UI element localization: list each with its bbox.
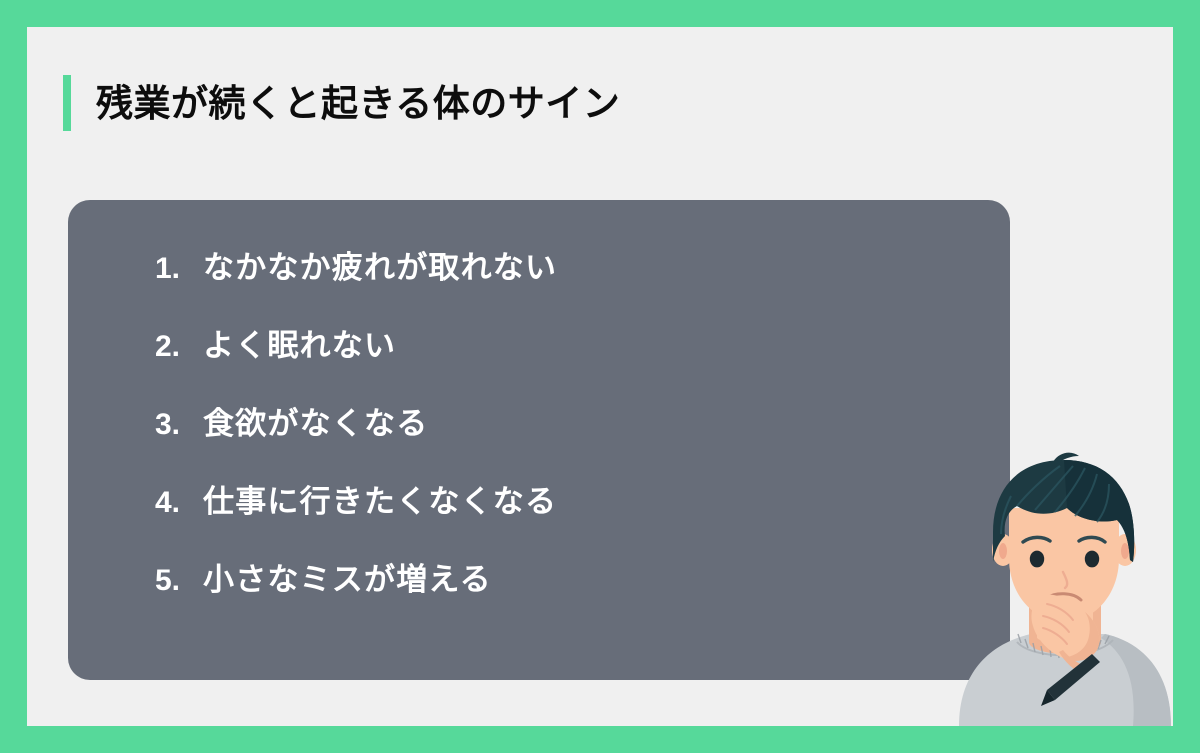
list-item-label: 食欲がなくなる: [203, 398, 428, 443]
list-item-label: なかなか疲れが取れない: [203, 242, 557, 287]
list-item-number: 5.: [155, 564, 203, 598]
list-item-label: よく眠れない: [203, 320, 396, 365]
list-item: 3. 食欲がなくなる: [155, 398, 557, 476]
list-item: 1. なかなか疲れが取れない: [155, 242, 557, 320]
title-label: 残業が続くと起きる体のサイン: [96, 85, 620, 122]
list-item: 4. 仕事に行きたくなくなる: [155, 476, 557, 554]
list-item-number: 1.: [155, 252, 203, 286]
list-item-number: 3.: [155, 408, 203, 442]
list-item-label: 小さなミスが増える: [203, 554, 492, 599]
list-item: 2. よく眠れない: [155, 320, 557, 398]
title-accent-bar: [63, 75, 71, 131]
thinking-man-illustration: [955, 446, 1173, 726]
signs-list: 1. なかなか疲れが取れない 2. よく眠れない 3. 食欲がなくなる 4. 仕…: [155, 242, 557, 632]
list-item-number: 4.: [155, 486, 203, 520]
slide-canvas: 残業が続くと起きる体のサイン 1. なかなか疲れが取れない 2. よく眠れない …: [27, 27, 1173, 726]
list-item-number: 2.: [155, 330, 203, 364]
slide-frame: 残業が続くと起きる体のサイン 1. なかなか疲れが取れない 2. よく眠れない …: [0, 0, 1200, 753]
page-title: 残業が続くと起きる体のサイン: [63, 75, 620, 131]
list-item: 5. 小さなミスが増える: [155, 554, 557, 632]
content-card: 1. なかなか疲れが取れない 2. よく眠れない 3. 食欲がなくなる 4. 仕…: [68, 200, 1010, 680]
list-item-label: 仕事に行きたくなくなる: [203, 476, 557, 521]
